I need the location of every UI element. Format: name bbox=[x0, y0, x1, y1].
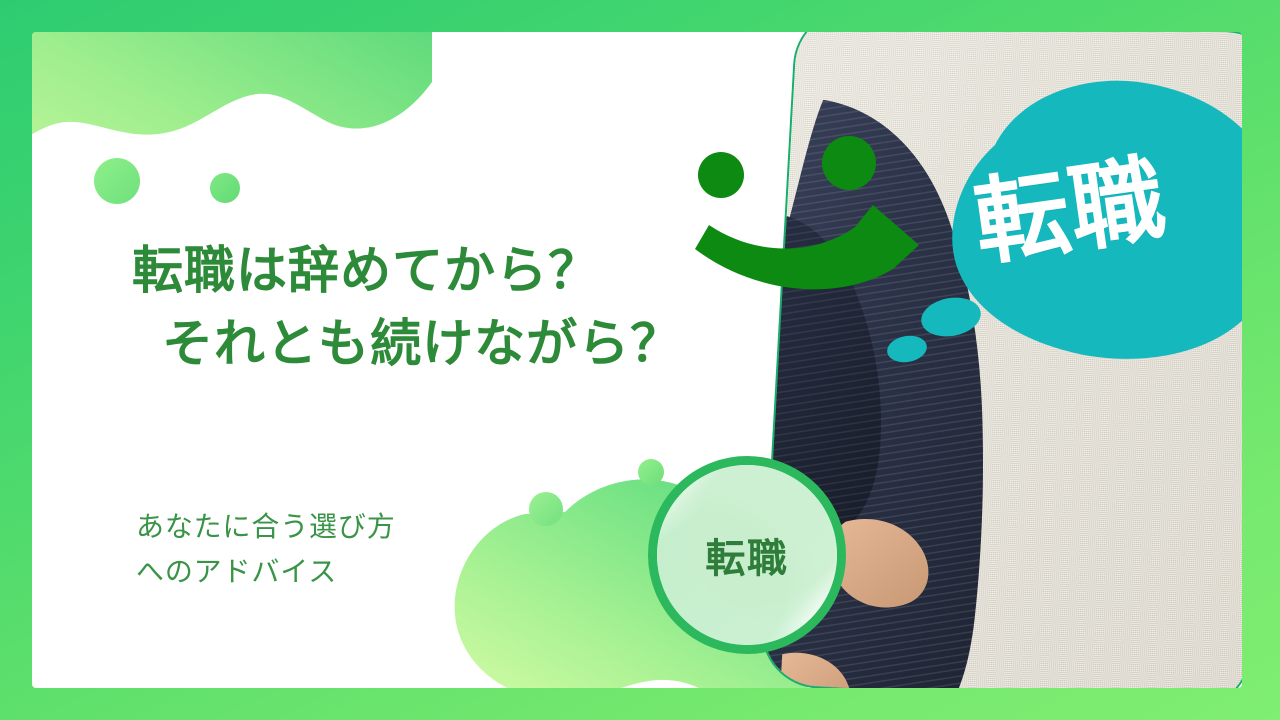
page-title-line-1: 転職は辞めてから？ bbox=[132, 242, 600, 299]
page-title: 転職は辞めてから？それとも続けながら？ bbox=[132, 234, 812, 381]
smiley-left-eye bbox=[698, 152, 744, 198]
badge-label: 転職 bbox=[705, 526, 788, 584]
decorative-dot-large bbox=[94, 158, 140, 204]
decorative-dot-small bbox=[210, 173, 240, 203]
decorative-blob-top-left bbox=[32, 32, 432, 212]
white-content-card: 転職は辞めてから？それとも続けながら？ あなたに合う選び方 へのアドバイス bbox=[32, 32, 1242, 688]
subtitle: あなたに合う選び方 へのアドバイス bbox=[136, 504, 536, 595]
page-title-line-2: それとも続けながら？ bbox=[132, 307, 812, 380]
subtitle-line-1: あなたに合う選び方 bbox=[136, 504, 536, 549]
status-badge: 転職 bbox=[648, 456, 846, 654]
outer-green-frame: 転職は辞めてから？それとも続けながら？ あなたに合う選び方 へのアドバイス bbox=[0, 0, 1280, 720]
subtitle-line-2: へのアドバイス bbox=[136, 549, 536, 594]
